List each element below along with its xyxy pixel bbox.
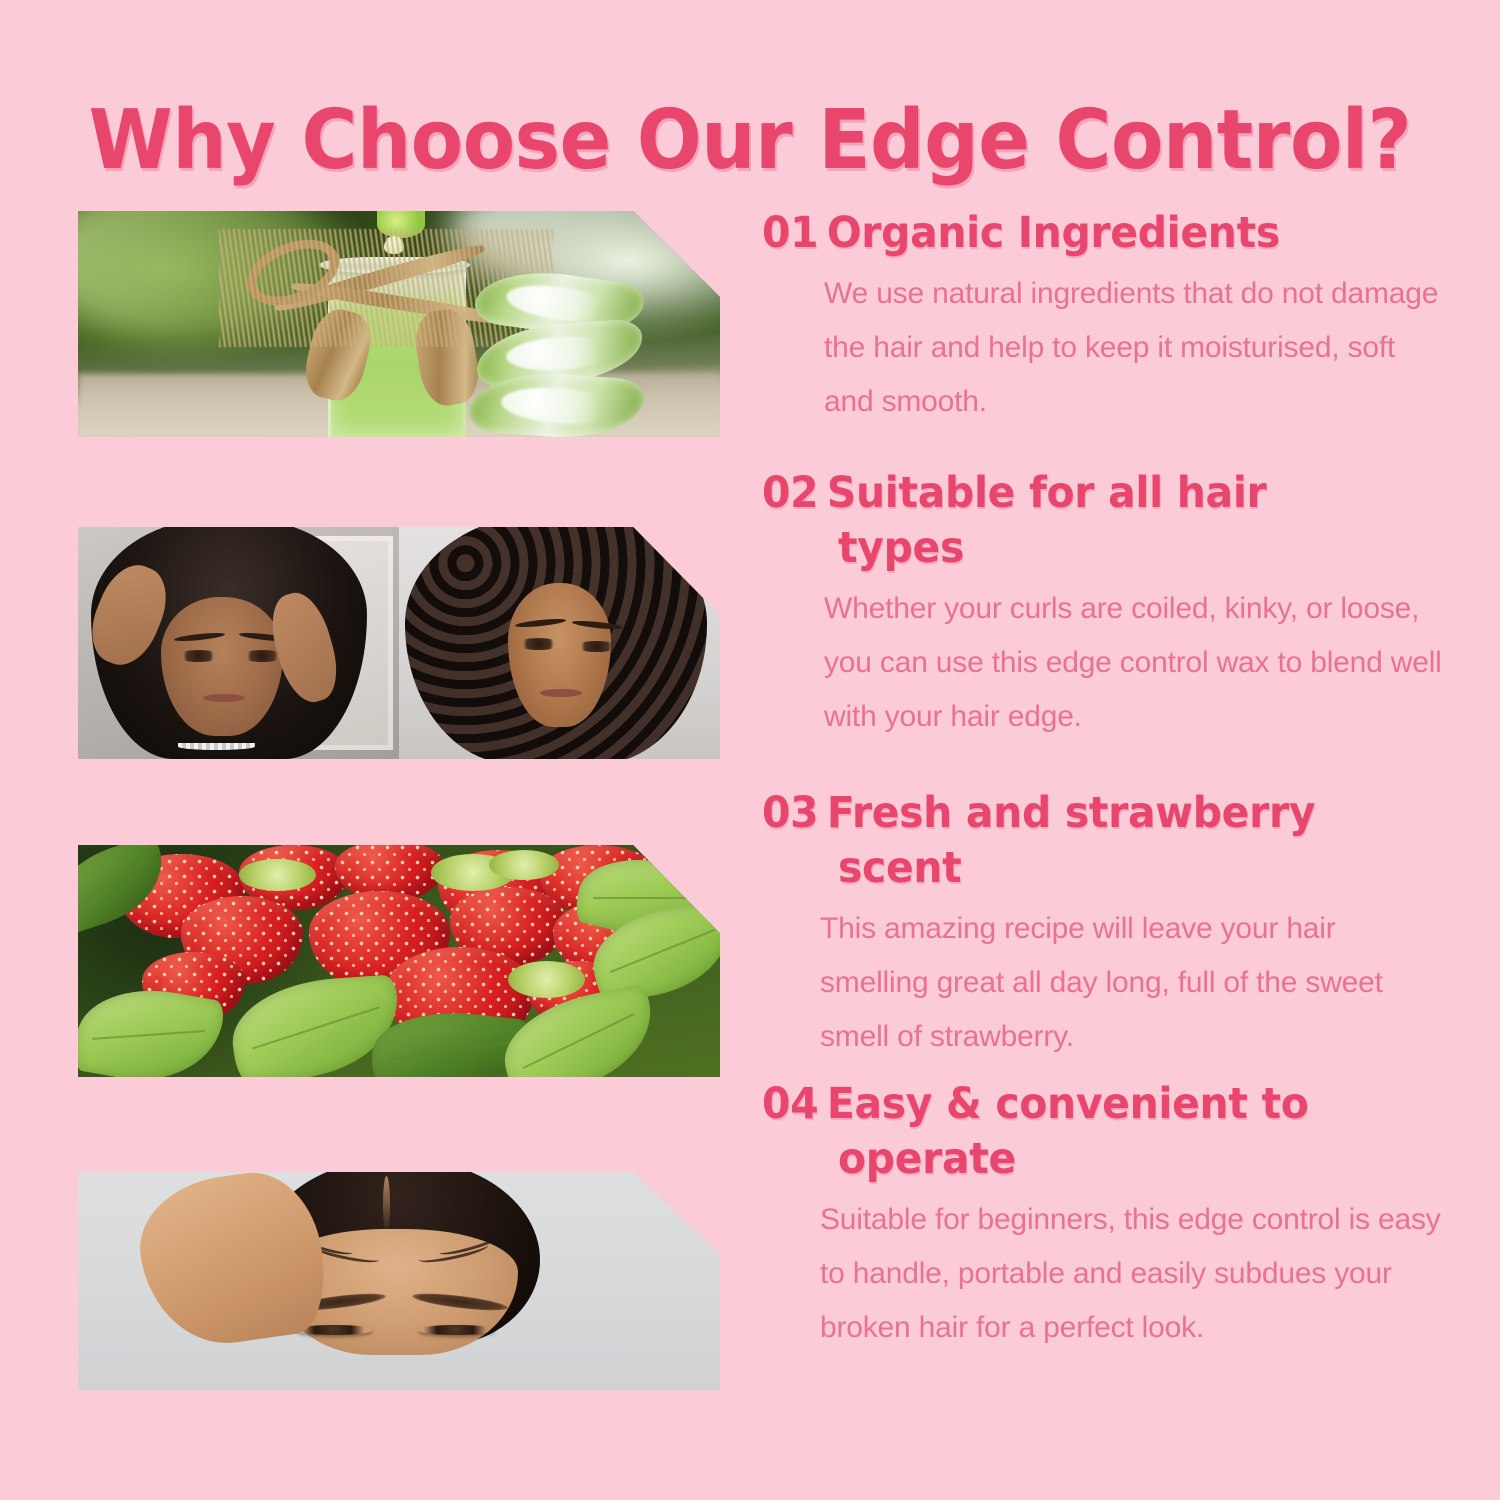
feature-body-01: We use natural ingredients that do not d… bbox=[762, 267, 1452, 429]
aloe-vera-scene bbox=[78, 211, 720, 437]
feature-number-04: 04 bbox=[762, 1079, 818, 1129]
feature-heading-text-03-line2: scent bbox=[768, 841, 1418, 896]
feature-number-03: 03 bbox=[762, 788, 818, 838]
feature-heading-text-02-line2: types bbox=[768, 521, 1418, 576]
feature-text-column: 01Organic Ingredients We use natural ing… bbox=[762, 0, 1452, 1500]
feature-number-01: 01 bbox=[762, 208, 818, 258]
feature-image-organic-ingredients bbox=[78, 211, 720, 437]
strawberry-calyx bbox=[239, 859, 316, 891]
model-right-photo bbox=[399, 527, 720, 759]
feature-image-all-hair-types bbox=[78, 527, 720, 759]
feature-number-02: 02 bbox=[762, 468, 818, 518]
feature-heading-text-01: Organic Ingredients bbox=[827, 208, 1280, 258]
strawberry-calyx bbox=[489, 850, 560, 880]
feature-body-03: This amazing recipe will leave your hair… bbox=[762, 902, 1452, 1064]
feature-image-easy-to-operate bbox=[78, 1172, 720, 1390]
model-lips bbox=[203, 694, 245, 702]
product-feature-poster: Why Choose Our Edge Control? bbox=[0, 0, 1500, 1500]
model-left-photo bbox=[78, 527, 399, 759]
model-eye bbox=[518, 638, 560, 650]
feature-block-01: 01Organic Ingredients We use natural ing… bbox=[762, 206, 1452, 429]
feature-body-04: Suitable for beginners, this edge contro… bbox=[762, 1193, 1452, 1355]
feature-block-04: 04Easy & convenient to operate Suitable … bbox=[762, 1077, 1452, 1355]
strawberry-calyx bbox=[508, 961, 585, 998]
model-eye bbox=[178, 650, 220, 662]
feature-heading-text-04: Easy & convenient to bbox=[827, 1079, 1309, 1129]
feature-image-strawberry-scent bbox=[78, 845, 720, 1077]
feature-heading-03: 03Fresh and strawberry scent bbox=[762, 786, 1418, 896]
feature-heading-text-03: Fresh and strawberry bbox=[827, 788, 1315, 838]
photo-column bbox=[78, 0, 738, 1500]
strawberries-scene bbox=[78, 845, 720, 1077]
edge-closeup-scene bbox=[78, 1172, 720, 1390]
two-models-scene bbox=[78, 527, 720, 759]
feature-heading-04: 04Easy & convenient to operate bbox=[762, 1077, 1418, 1187]
feature-block-02: 02Suitable for all hair types Whether yo… bbox=[762, 466, 1452, 744]
feature-heading-text-02: Suitable for all hair bbox=[827, 468, 1267, 518]
feature-heading-text-04-line2: operate bbox=[768, 1132, 1418, 1187]
model-face bbox=[508, 583, 611, 727]
feature-heading-01: 01Organic Ingredients bbox=[762, 206, 1418, 261]
model-necklace bbox=[178, 743, 255, 750]
feature-heading-02: 02Suitable for all hair types bbox=[762, 466, 1418, 576]
hair-part-line bbox=[383, 1176, 390, 1233]
duo-layout bbox=[78, 527, 720, 759]
feature-block-03: 03Fresh and strawberry scent This amazin… bbox=[762, 786, 1452, 1064]
feature-body-02: Whether your curls are coiled, kinky, or… bbox=[762, 582, 1452, 744]
